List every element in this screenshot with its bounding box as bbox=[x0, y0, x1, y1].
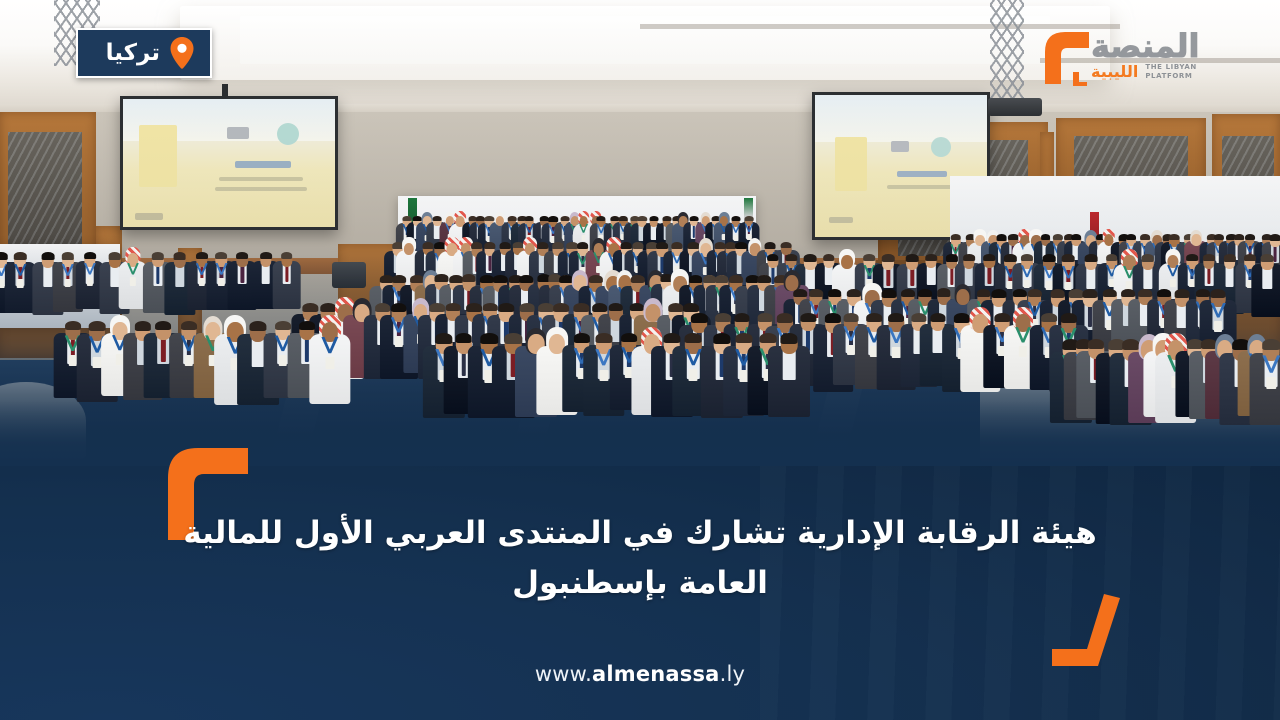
attendee-badge-card bbox=[325, 357, 334, 369]
attendee-hair bbox=[1270, 234, 1280, 241]
location-badge[interactable]: تركيا bbox=[76, 28, 212, 78]
attendee-hair bbox=[963, 254, 975, 261]
location-label: تركيا bbox=[106, 42, 160, 65]
attendee-hair bbox=[1223, 254, 1235, 261]
attendee-hair bbox=[84, 252, 96, 259]
attendee bbox=[768, 330, 810, 421]
attendee-hair bbox=[260, 252, 272, 259]
attendee-hair bbox=[1085, 254, 1098, 262]
attendee-badge-card bbox=[184, 355, 193, 366]
attendee-hair bbox=[173, 252, 186, 260]
logo-english-line2: PLATFORM bbox=[1145, 72, 1192, 80]
attendee-hair bbox=[685, 333, 702, 343]
attendee-hair bbox=[1060, 313, 1076, 323]
news-card: تركيا المنصة THE LIBYAN PLATFORM الليبية… bbox=[0, 0, 1280, 720]
attendee-hair bbox=[236, 252, 248, 259]
attendee-badge-card bbox=[199, 278, 205, 286]
attendee-badge-card bbox=[689, 369, 698, 381]
attendee-badge-card bbox=[218, 278, 224, 286]
logo-english-text: THE LIBYAN PLATFORM bbox=[1145, 63, 1197, 81]
almenassa-logo[interactable]: المنصة THE LIBYAN PLATFORM الليبية bbox=[1035, 18, 1250, 94]
logo-wordmark: المنصة THE LIBYAN PLATFORM الليبية bbox=[1091, 31, 1199, 81]
attendee-badge-card bbox=[847, 345, 855, 355]
logo-arabic-main: المنصة bbox=[1091, 31, 1199, 61]
attendee-badge-card bbox=[1214, 321, 1222, 332]
attendee-badge-card bbox=[65, 279, 72, 288]
attendee-hair bbox=[781, 333, 798, 343]
attendee-badge-card bbox=[599, 370, 608, 382]
attendee-hair bbox=[882, 254, 895, 262]
attendee-badge-card bbox=[87, 277, 93, 285]
attendee-head bbox=[841, 255, 853, 269]
attendee-hair bbox=[62, 252, 74, 259]
almenassa-logo-mark-icon bbox=[1035, 26, 1093, 86]
attendee-hair bbox=[1203, 254, 1215, 261]
attendee-hair bbox=[196, 252, 208, 259]
attendee-hair bbox=[1261, 254, 1274, 262]
map-pin-icon bbox=[170, 37, 194, 69]
attendee bbox=[5, 250, 35, 315]
attendee-hair bbox=[14, 252, 26, 259]
logo-subline: THE LIBYAN PLATFORM الليبية bbox=[1091, 63, 1197, 81]
attendee-hair bbox=[745, 216, 754, 221]
attendee-badge-card bbox=[68, 355, 77, 366]
url-suffix: .ly bbox=[720, 662, 746, 686]
attendee bbox=[1252, 252, 1280, 320]
attendee-badge-card bbox=[17, 279, 24, 288]
attendee-badge-card bbox=[130, 277, 136, 285]
attendee bbox=[309, 318, 350, 407]
url-brand: almenassa bbox=[592, 662, 720, 686]
headline-text: هيئة الرقابة الإدارية تشارك في المنتدى ا… bbox=[180, 508, 1100, 608]
website-url[interactable]: www.almenassa.ly bbox=[0, 662, 1280, 686]
attendee-badge-card bbox=[279, 355, 288, 366]
attendee-hair bbox=[1211, 289, 1226, 298]
attendee-badge-card bbox=[1267, 377, 1276, 389]
attendee-hair bbox=[925, 254, 936, 261]
attendee-hair bbox=[281, 252, 293, 259]
attendee-hair bbox=[1062, 254, 1075, 262]
attendee-hair bbox=[1263, 339, 1280, 350]
attendee-badge-card bbox=[1019, 346, 1027, 357]
logo-arabic-sub: الليبية bbox=[1091, 64, 1138, 80]
attendee-hair bbox=[216, 252, 228, 259]
attendee-hair bbox=[152, 252, 164, 259]
attendee bbox=[1250, 336, 1280, 429]
attendee-hair bbox=[984, 254, 996, 261]
attendee-hair bbox=[1021, 254, 1033, 261]
attendee-badge-card bbox=[0, 279, 5, 288]
attendee-hair bbox=[781, 242, 792, 248]
attendee-badge-card bbox=[394, 336, 402, 347]
attendee-hair bbox=[1141, 254, 1154, 262]
attendee-hair bbox=[525, 216, 534, 221]
url-prefix: www. bbox=[535, 662, 592, 686]
